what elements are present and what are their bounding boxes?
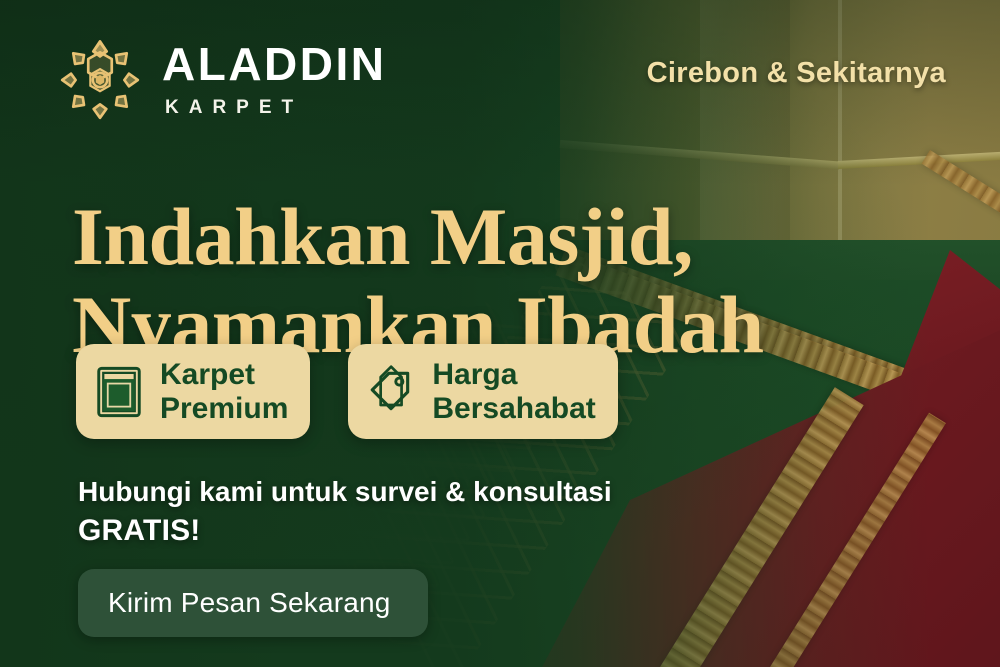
cta-free-highlight: GRATIS! <box>78 511 718 551</box>
banner-content: ALADDIN KARPET Cirebon & Sekitarnya Inda… <box>0 0 1000 667</box>
headline-line-1: Indahkan Masjid, <box>72 193 932 282</box>
cta-description: Hubungi kami untuk survei & konsultasi G… <box>78 474 718 551</box>
brand-lockup: ALADDIN KARPET <box>58 38 386 122</box>
feature-badge-label: Karpet Premium <box>160 358 288 425</box>
brand-name: ALADDIN <box>162 41 386 87</box>
promo-banner: ALADDIN KARPET Cirebon & Sekitarnya Inda… <box>0 0 1000 667</box>
feature-badge-label: Harga Bersahabat <box>432 358 595 425</box>
service-area-label: Cirebon & Sekitarnya <box>647 57 946 90</box>
mandala-star-icon <box>58 38 142 122</box>
banner-header: ALADDIN KARPET Cirebon & Sekitarnya <box>58 32 960 128</box>
brand-subtitle: KARPET <box>165 98 386 117</box>
feature-badge-karpet-premium[interactable]: Karpet Premium <box>76 344 310 439</box>
carpet-rug-icon <box>94 365 144 419</box>
feature-badge-list: Karpet Premium Harga Bersahabat <box>76 344 618 439</box>
send-message-button[interactable]: Kirim Pesan Sekarang <box>78 569 428 637</box>
feature-badge-harga-bersahabat[interactable]: Harga Bersahabat <box>348 344 617 439</box>
price-tag-icon <box>366 365 416 419</box>
cta-description-text: Hubungi kami untuk survei & konsultasi <box>78 476 612 507</box>
brand-text: ALADDIN KARPET <box>162 41 386 119</box>
